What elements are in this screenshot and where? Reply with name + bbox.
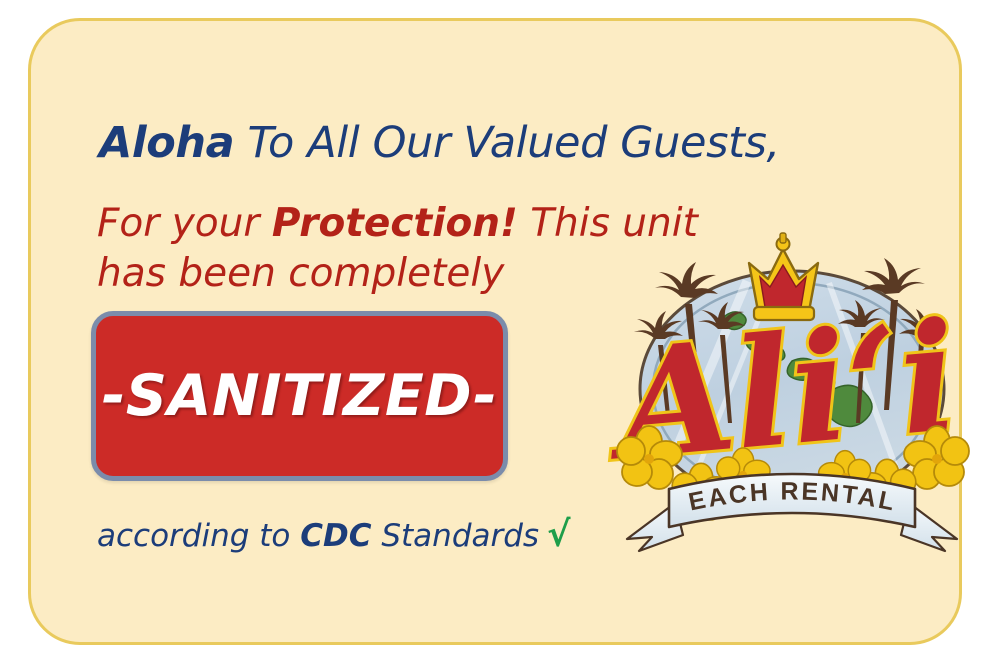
sanitized-notice-card: Aloha To All Our Valued Guests, For your… [28,18,962,645]
cdc-footnote-lead: according to [97,518,300,554]
check-mark-icon: √ [539,515,570,555]
greeting-line: Aloha To All Our Valued Guests, [99,118,780,168]
protection-lead: For your [97,201,272,246]
sanitized-badge-label: -SANITIZED- [102,363,498,429]
protection-emphasis: Protection! [272,201,518,246]
cdc-footnote: according to CDC Standards√ [97,515,570,555]
greeting-emphasis: Aloha [99,118,234,168]
cdc-footnote-rest: Standards [371,518,539,554]
greeting-rest: To All Our Valued Guests, [234,118,780,168]
sanitized-badge: -SANITIZED- [91,311,508,481]
alii-beach-rentals-logo: Aliʻi [597,221,987,566]
cdc-footnote-emphasis: CDC [300,518,371,554]
